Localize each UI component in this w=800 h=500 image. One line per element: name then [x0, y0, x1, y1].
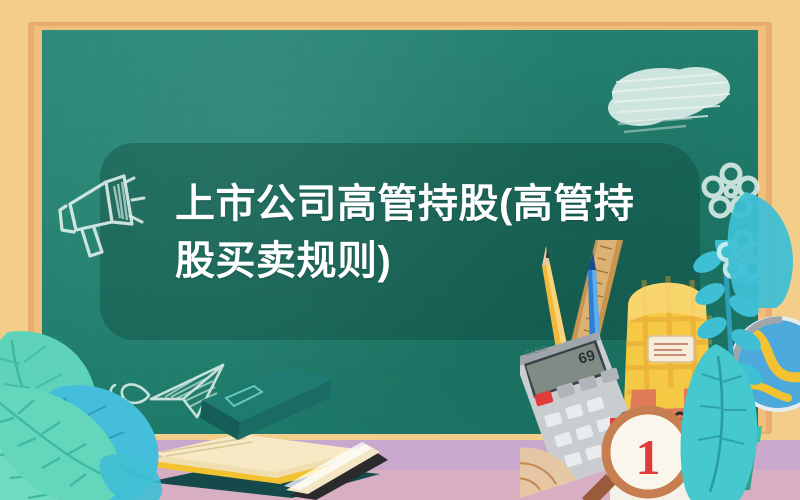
cover-image-canvas: 上市公司高管持股(高管持 股买卖规则): [0, 0, 800, 500]
page-title-line-1: 上市公司高管持股(高管持: [175, 176, 665, 233]
page-title-line-2: 股买卖规则): [175, 233, 665, 290]
page-title: 上市公司高管持股(高管持 股买卖规则): [175, 176, 665, 290]
megaphone-icon: [48, 152, 168, 272]
leaves-cluster-left-bottom: [0, 366, 180, 500]
svg-text:1: 1: [636, 429, 661, 485]
leaves-cluster-right: [716, 188, 800, 308]
cloud-scribble-icon: [600, 52, 750, 162]
teal-book: [196, 360, 336, 444]
